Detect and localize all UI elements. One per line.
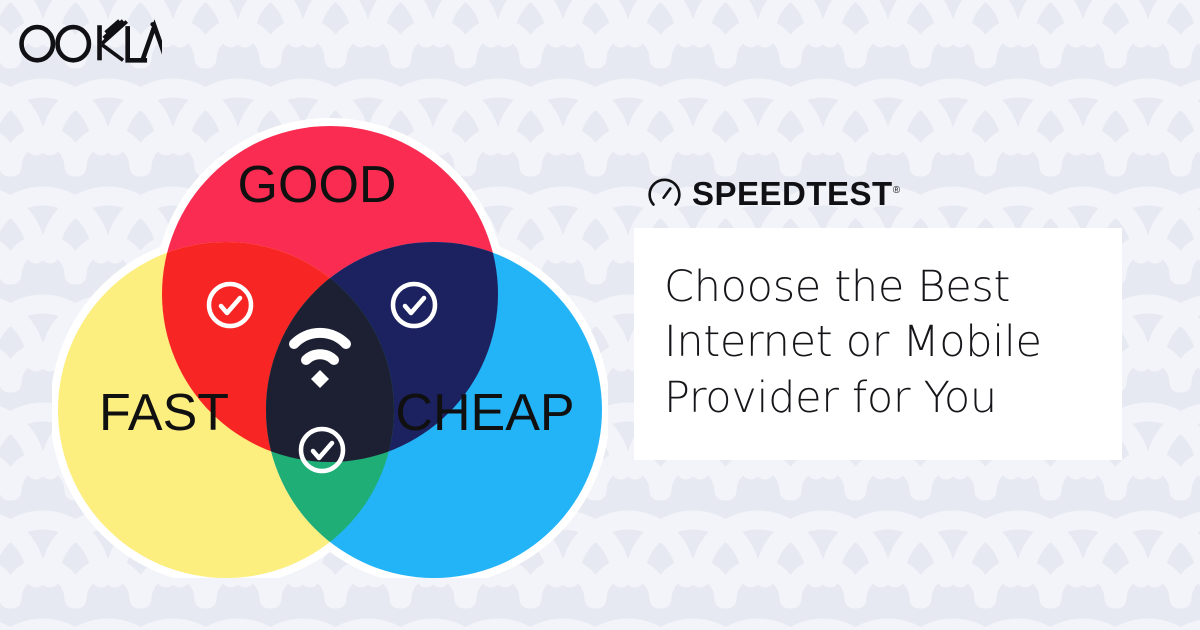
speedtest-logo-lockup: SPEEDTEST® xyxy=(634,170,1122,216)
headline-card: Choose the Best Internet or Mobile Provi… xyxy=(634,228,1122,460)
venn-label-good: GOOD xyxy=(238,156,397,214)
right-content-column: SPEEDTEST® Choose the Best Internet or M… xyxy=(634,170,1122,460)
speedtest-registered-mark: ® xyxy=(893,185,900,196)
ookla-logo xyxy=(14,16,162,64)
venn-diagram: GOOD FAST CHEAP xyxy=(52,62,608,578)
ookla-registered-mark xyxy=(150,22,154,26)
speedometer-icon xyxy=(648,177,681,210)
speedtest-wordmark-text: SPEEDTEST xyxy=(692,175,893,212)
page-title: Choose the Best Internet or Mobile Provi… xyxy=(664,260,1092,426)
headline-line-1: Choose the Best xyxy=(664,260,1092,315)
venn-label-cheap: CHEAP xyxy=(395,384,574,442)
venn-label-fast: FAST xyxy=(99,384,229,442)
headline-line-3: Provider for You xyxy=(664,371,1092,426)
speedtest-wordmark: SPEEDTEST® xyxy=(692,177,900,210)
headline-line-2: Internet or Mobile xyxy=(664,315,1092,370)
